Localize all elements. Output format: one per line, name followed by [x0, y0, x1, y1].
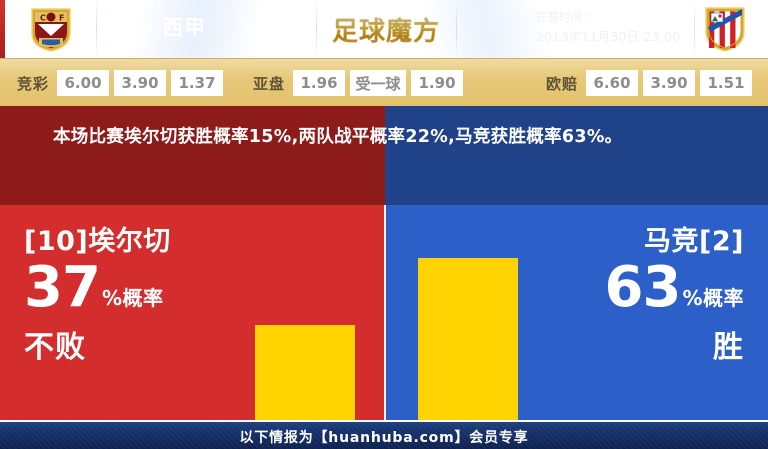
header-divider-logo-left: [316, 0, 317, 58]
home-outcome-label: 不败: [24, 322, 171, 366]
odds-bar: 竞彩 6.00 3.90 1.37 亚盘 1.96 受一球 1.90 欧赔 6.…: [0, 58, 768, 107]
odds-cell-away[interactable]: 1.37: [171, 70, 223, 96]
svg-text:F: F: [59, 14, 64, 23]
league-name: 西甲: [162, 16, 206, 40]
site-logo-text: 足球魔方: [332, 11, 440, 48]
odds-group-asian-handicap: 亚盘 1.96 受一球 1.90: [253, 70, 463, 96]
atletico-madrid-crest-icon: [702, 5, 748, 53]
away-probability-value: 63: [605, 261, 681, 314]
home-probability-row: 37 %概率: [24, 261, 171, 314]
odds-group-title: 欧赔: [546, 73, 578, 94]
panel-divider: [384, 205, 386, 420]
summary-text: 本场比赛埃尔切获胜概率15%,两队战平概率22%,马竞获胜概率63%。: [53, 124, 733, 151]
odds-cell-home[interactable]: 1.96: [293, 70, 345, 96]
home-probability-value: 37: [24, 261, 100, 314]
header-divider-right: [694, 0, 695, 58]
site-logo[interactable]: 足球魔方: [322, 9, 450, 49]
summary-left-half: [0, 106, 385, 205]
away-probability-suffix: %概率: [682, 288, 744, 314]
odds-cell-away[interactable]: 1.90: [411, 70, 463, 96]
odds-cell-draw[interactable]: 3.90: [643, 70, 695, 96]
probability-chart: [10]埃尔切 37 %概率 不败 马竞[2] 63 %概率 胜: [0, 205, 768, 420]
header-accent-stripe: [0, 0, 5, 58]
header-bar: C F 周六047 西甲 足球魔方: [0, 0, 768, 58]
odds-cell-handicap[interactable]: 受一球: [350, 70, 406, 96]
header-divider-left: [96, 0, 97, 58]
bar-home-probability: [255, 325, 355, 420]
summary-band: 本场比赛埃尔切获胜概率15%,两队战平概率22%,马竞获胜概率63%。: [0, 106, 768, 205]
odds-group-title: 亚盘: [253, 73, 285, 94]
league-label: 周六047 西甲: [104, 12, 206, 42]
odds-cell-home[interactable]: 6.00: [57, 70, 109, 96]
odds-cell-away[interactable]: 1.51: [700, 70, 752, 96]
odds-cell-home[interactable]: 6.60: [586, 70, 638, 96]
odds-group-jingcai: 竞彩 6.00 3.90 1.37: [17, 70, 223, 96]
away-probability-row: 63 %概率: [605, 261, 744, 314]
svg-text:C: C: [40, 14, 46, 23]
kickoff-info: 开赛时间： 2013年11月30日 23:00: [536, 9, 681, 46]
away-team-name: 马竞[2]: [605, 227, 744, 257]
home-stats: [10]埃尔切 37 %概率 不败: [24, 227, 171, 366]
match-round-number: 周六047: [104, 24, 153, 38]
bar-away-probability: [418, 258, 518, 420]
away-outcome-label: 胜: [605, 322, 744, 366]
odds-group-title: 竞彩: [17, 73, 49, 94]
home-probability-suffix: %概率: [102, 288, 164, 314]
kickoff-label: 开赛时间：: [536, 9, 681, 27]
match-prediction-graphic: C F 周六047 西甲 足球魔方: [0, 0, 768, 449]
away-stats: 马竞[2] 63 %概率 胜: [605, 227, 744, 366]
header-divider-logo-right: [456, 0, 457, 58]
odds-cell-draw[interactable]: 3.90: [114, 70, 166, 96]
footer-text: 以下情报为【huanhuba.com】会员专享: [240, 427, 529, 447]
summary-right-half: [385, 106, 768, 205]
odds-group-european: 欧赔 6.60 3.90 1.51: [546, 70, 752, 96]
home-team-name: [10]埃尔切: [24, 227, 171, 257]
kickoff-datetime: 2013年11月30日 23:00: [536, 27, 681, 46]
footer-bar: 以下情报为【huanhuba.com】会员专享: [0, 420, 768, 449]
elche-cf-crest-icon: C F: [26, 5, 76, 53]
